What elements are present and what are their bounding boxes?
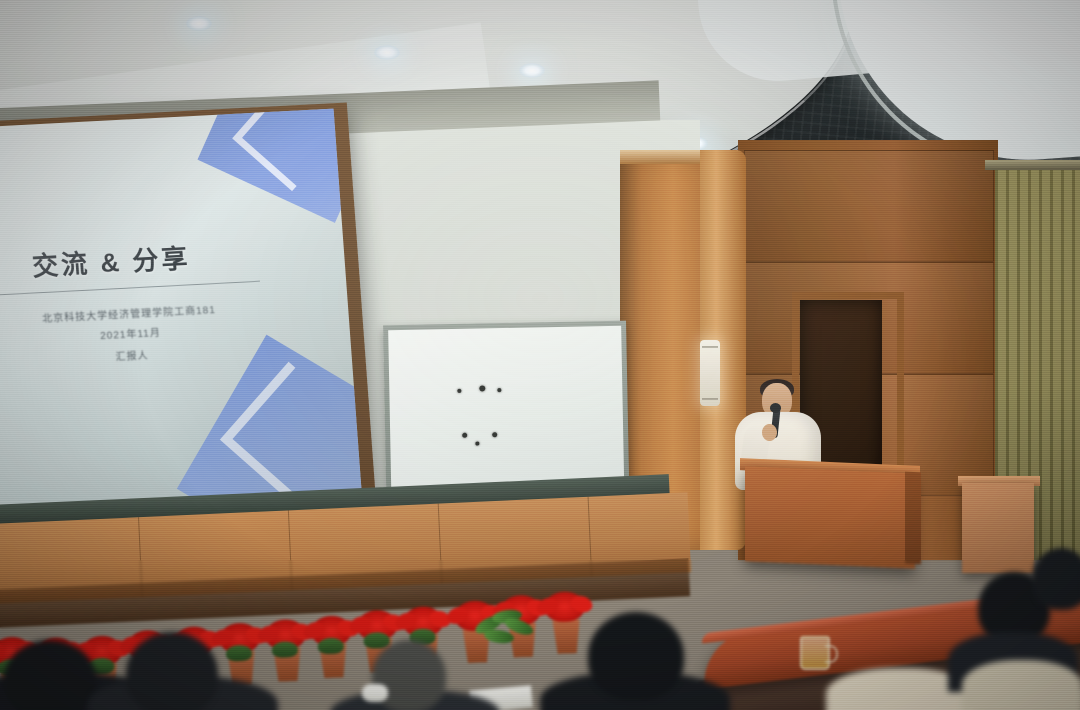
poinsettia-leaf (226, 645, 253, 662)
downlight-icon (374, 45, 400, 60)
poinsettia-leaf (272, 641, 299, 658)
audience-head (4, 640, 96, 710)
lecture-hall-photo: 交流 & 分享 北京科技大学经济管理学院工商181 2021年11月 汇报人 (0, 0, 1080, 710)
audience-head (1032, 548, 1080, 610)
audience-head (126, 632, 218, 710)
whiteboard-magnet (457, 389, 461, 393)
curtain-rod (985, 160, 1080, 170)
microphone-head-icon (770, 403, 781, 413)
face-mask (362, 684, 388, 702)
podium: 北京科技大学经济管理学院 (745, 466, 915, 568)
downlight-icon (519, 63, 545, 78)
wall-panel-seam (744, 150, 994, 262)
whiteboard-magnet (462, 433, 467, 438)
poinsettia-leaf (318, 637, 345, 654)
projection-screen: 交流 & 分享 北京科技大学经济管理学院工商181 2021年11月 汇报人 (0, 109, 362, 518)
potted-green-plant (470, 600, 540, 656)
downlight-icon (186, 16, 212, 31)
wall-sconce-light-icon (700, 340, 720, 406)
whiteboard-magnet (497, 388, 501, 392)
audience-shoulders (962, 660, 1080, 710)
whiteboard-magnet (492, 432, 497, 437)
side-cabinet (962, 483, 1034, 573)
podium-side-panel (905, 472, 921, 565)
plant-leaf (483, 628, 515, 645)
whiteboard-magnet (475, 442, 479, 446)
audience-head (588, 612, 684, 700)
flower-pot (549, 619, 584, 654)
whiteboard-magnet (479, 385, 485, 391)
tea-mug (800, 636, 830, 670)
slide-title: 交流 & 分享 (31, 238, 192, 283)
poinsettia-bloom (544, 591, 585, 622)
speaker-hand (762, 424, 777, 441)
